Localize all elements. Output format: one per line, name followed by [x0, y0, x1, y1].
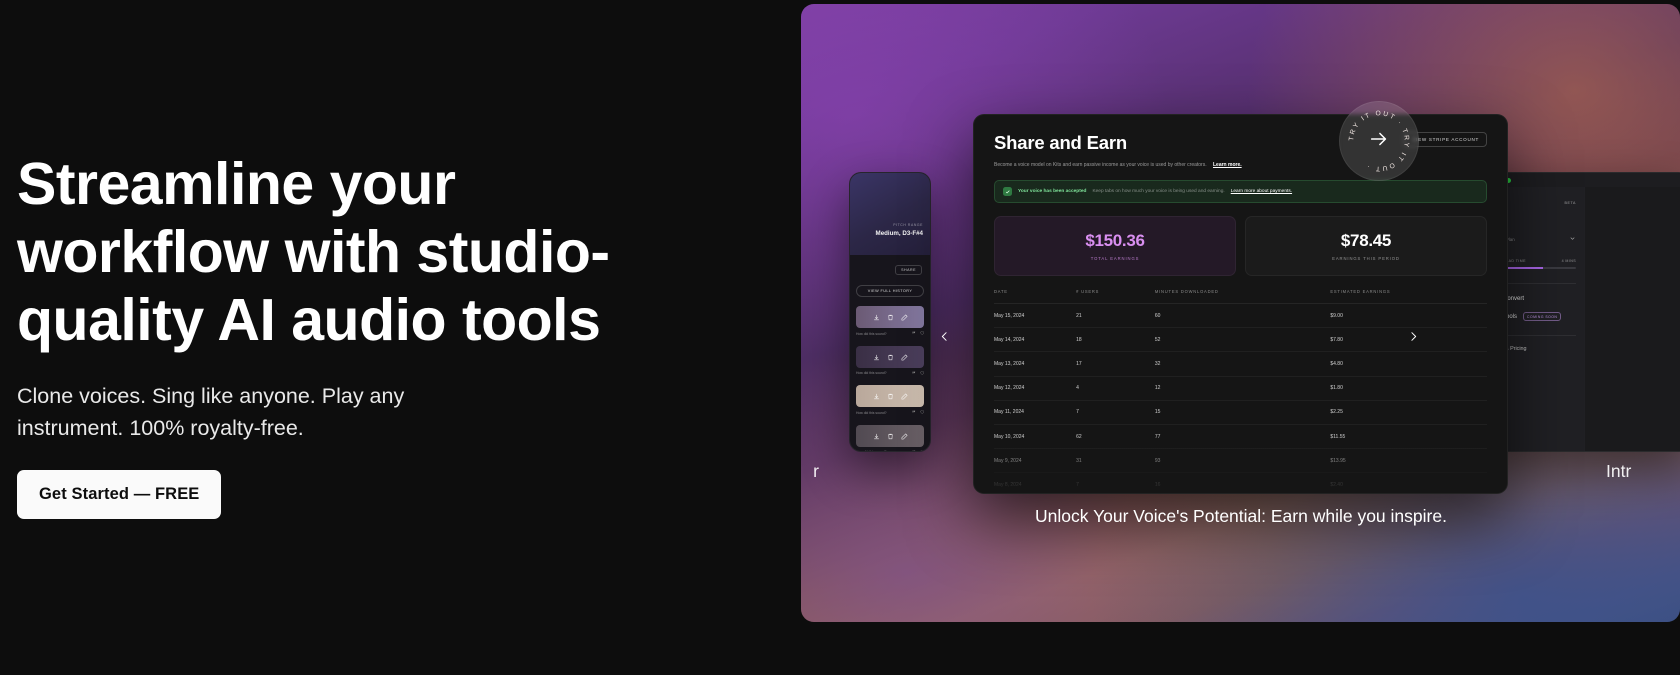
- cell-date: May 10, 2024: [994, 424, 1066, 448]
- list-item-caption: How did this sound?: [856, 371, 887, 375]
- voice-accepted-banner: Your voice has been accepted Keep tabs o…: [994, 180, 1487, 203]
- waveform-bar: [856, 346, 924, 368]
- waveform-bar: [856, 385, 924, 407]
- share-button[interactable]: SHARE: [895, 265, 922, 275]
- carousel-card-previous[interactable]: PITCH RANGE Medium, D3-F#4 SHARE VIEW FU…: [849, 172, 931, 452]
- banner-title: Your voice has been accepted: [1018, 189, 1086, 194]
- chevron-right-icon: [1407, 330, 1420, 346]
- list-item-caption-row: How did this sound?: [856, 371, 924, 377]
- column-header-users: # USERS: [1066, 289, 1145, 304]
- view-full-history-button[interactable]: VIEW FULL HISTORY: [856, 285, 924, 297]
- table-row: May 10, 2024 62 77 $11.55: [994, 424, 1487, 448]
- cell-users: 21: [1066, 304, 1145, 328]
- list-item-caption-row: How did this sound?: [856, 331, 924, 337]
- heart-icon[interactable]: [920, 331, 925, 337]
- cell-minutes: 52: [1145, 328, 1320, 352]
- table-header-row: DATE # USERS MINUTES DOWNLOADED ESTIMATE…: [994, 289, 1487, 304]
- cell-date: May 12, 2024: [994, 376, 1066, 400]
- get-started-button[interactable]: Get Started — FREE: [17, 470, 221, 519]
- trash-icon[interactable]: [887, 387, 894, 405]
- carousel-prev-button[interactable]: [931, 325, 957, 351]
- cell-users: 62: [1066, 424, 1145, 448]
- cell-earnings: $1.80: [1320, 376, 1487, 400]
- trash-icon[interactable]: [887, 308, 894, 326]
- beta-badge: BETA: [1564, 201, 1576, 205]
- heart-icon[interactable]: [920, 410, 925, 416]
- pitch-range-value: Medium, D3-F#4: [876, 230, 923, 237]
- pencil-icon[interactable]: [901, 387, 908, 405]
- cell-users: 4: [1066, 376, 1145, 400]
- stat-total-earnings: $150.36 TOTAL EARNINGS: [994, 216, 1236, 276]
- cell-date: May 13, 2024: [994, 352, 1066, 376]
- pencil-icon[interactable]: [901, 348, 908, 366]
- waveform-bar: [856, 425, 924, 447]
- stat-label: EARNINGS THIS PERIOD: [1246, 256, 1486, 261]
- pitch-range-hero: PITCH RANGE Medium, D3-F#4: [850, 173, 930, 255]
- cell-users: 31: [1066, 449, 1145, 473]
- thumbs-down-icon[interactable]: [912, 450, 917, 453]
- cell-minutes: 16: [1145, 473, 1320, 494]
- carousel-caption-previous: r: [801, 459, 861, 484]
- pencil-icon[interactable]: [901, 308, 908, 326]
- list-item[interactable]: How did this sound?: [856, 425, 924, 453]
- dashboard-title: Share and Earn: [994, 132, 1127, 154]
- cell-earnings: $13.95: [1320, 449, 1487, 473]
- arrow-right-icon: [1368, 128, 1390, 155]
- list-item-caption: How did this sound?: [856, 332, 887, 336]
- cell-users: 7: [1066, 400, 1145, 424]
- list-item[interactable]: How did this sound?: [856, 306, 924, 337]
- list-item[interactable]: How did this sound?: [856, 346, 924, 377]
- chevron-left-icon: [938, 330, 951, 346]
- chevron-down-icon[interactable]: [1569, 229, 1576, 247]
- cell-users: 7: [1066, 473, 1145, 494]
- banner-text: Keep tabs on how much your voice is bein…: [1092, 189, 1224, 194]
- table-row: May 9, 2024 31 93 $13.95: [994, 449, 1487, 473]
- cell-earnings: $2.40: [1320, 473, 1487, 494]
- cell-minutes: 32: [1145, 352, 1320, 376]
- thumbs-down-icon[interactable]: [912, 410, 917, 416]
- carousel-card-next[interactable]: BETA ❮❮ LiveB Creator Plan DOWNLOAD TIME: [1480, 172, 1680, 452]
- cell-date: May 14, 2024: [994, 328, 1066, 352]
- stat-value: $150.36: [995, 231, 1235, 251]
- table-row: May 12, 2024 4 12 $1.80: [994, 376, 1487, 400]
- cell-minutes: 93: [1145, 449, 1320, 473]
- table-row: May 11, 2024 7 15 $2.25: [994, 400, 1487, 424]
- hero-subheadline: Clone voices. Sing like anyone. Play any…: [17, 380, 437, 444]
- cell-minutes: 77: [1145, 424, 1320, 448]
- table-row: May 8, 2024 7 16 $2.40: [994, 473, 1487, 494]
- list-item-caption-row: How did this sound?: [856, 450, 924, 453]
- thumbs-down-icon[interactable]: [912, 371, 917, 377]
- thumbs-down-icon[interactable]: [912, 331, 917, 337]
- window-titlebar: [1481, 173, 1680, 187]
- pitch-range-label: PITCH RANGE: [893, 223, 923, 227]
- table-row: May 13, 2024 17 32 $4.80: [994, 352, 1487, 376]
- trash-icon[interactable]: [887, 348, 894, 366]
- stat-period-earnings: $78.45 EARNINGS THIS PERIOD: [1245, 216, 1487, 276]
- share-and-earn-card: Share and Earn VIEW STRIPE ACCOUNT Becom…: [973, 114, 1508, 494]
- download-time-value: 4 MINS: [1562, 259, 1576, 263]
- page-title: Streamline your workflow with studio-qua…: [17, 150, 717, 354]
- download-icon[interactable]: [873, 308, 880, 326]
- trash-icon[interactable]: [887, 427, 894, 445]
- cell-users: 18: [1066, 328, 1145, 352]
- carousel-next-button[interactable]: [1400, 325, 1426, 351]
- list-item-caption: How did this sound?: [856, 450, 887, 452]
- download-icon[interactable]: [873, 348, 880, 366]
- cell-minutes: 12: [1145, 376, 1320, 400]
- history-list: VIEW FULL HISTORY How did this sound?: [856, 285, 924, 452]
- column-header-date: DATE: [994, 289, 1066, 304]
- column-header-earnings: ESTIMATED EARNINGS: [1320, 289, 1487, 304]
- heart-icon[interactable]: [920, 450, 925, 453]
- cell-earnings: $2.25: [1320, 400, 1487, 424]
- carousel-caption-next: Intr: [1606, 459, 1680, 484]
- list-item-caption-row: How did this sound?: [856, 410, 924, 416]
- app-main-area: [1585, 187, 1680, 451]
- cell-minutes: 15: [1145, 400, 1320, 424]
- stat-label: TOTAL EARNINGS: [995, 256, 1235, 261]
- dashboard-subtitle-text: Become a voice model on Kits and earn pa…: [994, 162, 1207, 168]
- hero-page: Streamline your workflow with studio-qua…: [0, 0, 1680, 675]
- check-icon: [1003, 187, 1012, 196]
- download-icon[interactable]: [873, 427, 880, 445]
- download-icon[interactable]: [873, 387, 880, 405]
- earnings-stats: $150.36 TOTAL EARNINGS $78.45 EARNINGS T…: [994, 216, 1487, 276]
- list-item-caption: How did this sound?: [856, 411, 887, 415]
- waveform-bar: [856, 306, 924, 328]
- coming-soon-badge: COMING SOON: [1523, 312, 1561, 321]
- column-header-minutes: MINUTES DOWNLOADED: [1145, 289, 1320, 304]
- hero-section: Streamline your workflow with studio-qua…: [0, 0, 800, 675]
- cell-earnings: $4.80: [1320, 352, 1487, 376]
- cell-users: 17: [1066, 352, 1145, 376]
- heart-icon[interactable]: [920, 371, 925, 377]
- earnings-table: DATE # USERS MINUTES DOWNLOADED ESTIMATE…: [994, 289, 1487, 494]
- cell-earnings: $11.55: [1320, 424, 1487, 448]
- pencil-icon[interactable]: [901, 427, 908, 445]
- cell-date: May 11, 2024: [994, 400, 1066, 424]
- cell-date: May 8, 2024: [994, 473, 1066, 494]
- cell-date: May 9, 2024: [994, 449, 1066, 473]
- stat-value: $78.45: [1246, 231, 1486, 251]
- learn-more-link[interactable]: Learn more.: [1213, 162, 1242, 168]
- carousel-caption: Unlock Your Voice's Potential: Earn whil…: [991, 504, 1491, 529]
- banner-link[interactable]: Learn more about payments.: [1231, 189, 1292, 194]
- cell-minutes: 60: [1145, 304, 1320, 328]
- try-it-out-badge[interactable]: TRY IT OUT · TRY IT OUT ·: [1339, 101, 1419, 181]
- cell-date: May 15, 2024: [994, 304, 1066, 328]
- list-item[interactable]: How did this sound?: [856, 385, 924, 416]
- carousel-panel: PITCH RANGE Medium, D3-F#4 SHARE VIEW FU…: [801, 4, 1680, 622]
